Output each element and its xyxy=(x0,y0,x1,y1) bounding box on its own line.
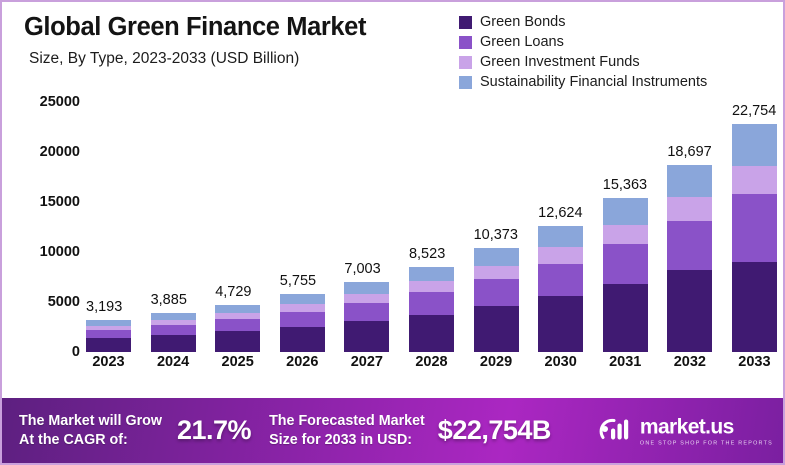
bar-value-label: 18,697 xyxy=(667,144,711,160)
bar-value-label: 7,003 xyxy=(344,261,380,277)
legend-item[interactable]: Green Investment Funds xyxy=(459,52,707,72)
bar-segment xyxy=(732,262,777,352)
bar-segment xyxy=(538,226,583,247)
x-axis-tick-label: 2026 xyxy=(280,354,325,370)
bar-segment xyxy=(344,303,389,321)
bar-column[interactable]: 22,754 xyxy=(732,102,777,352)
x-axis-tick-label: 2031 xyxy=(603,354,648,370)
y-axis-tick-label: 5000 xyxy=(48,294,80,310)
footer-bar: The Market will GrowAt the CAGR of: 21.7… xyxy=(2,398,785,463)
y-axis: 0500010000150002000025000 xyxy=(2,102,80,352)
bar-column[interactable]: 18,697 xyxy=(667,102,712,352)
y-axis-tick-label: 0 xyxy=(72,344,80,360)
bar-column[interactable]: 12,624 xyxy=(538,102,583,352)
legend-item-label: Green Bonds xyxy=(480,14,565,30)
bar-segment xyxy=(538,264,583,297)
bar-segment xyxy=(280,294,325,304)
bar-value-label: 5,755 xyxy=(280,273,316,289)
logo-bars-icon xyxy=(599,416,633,446)
y-axis-tick-label: 25000 xyxy=(40,94,80,110)
legend-swatch-icon xyxy=(459,16,472,29)
cagr-label: The Market will GrowAt the CAGR of: xyxy=(19,412,162,449)
bar-segment xyxy=(344,282,389,294)
bar-column[interactable]: 15,363 xyxy=(603,102,648,352)
chart-legend: Green BondsGreen LoansGreen Investment F… xyxy=(459,12,707,92)
chart-subtitle: Size, By Type, 2023-2033 (USD Billion) xyxy=(29,50,299,68)
legend-item[interactable]: Sustainability Financial Instruments xyxy=(459,72,707,92)
bar-segment xyxy=(603,225,648,245)
chart-card: Global Green Finance Market Size, By Typ… xyxy=(0,0,785,465)
bar-stack xyxy=(603,198,648,352)
legend-item[interactable]: Green Bonds xyxy=(459,12,707,32)
forecast-label: The Forecasted MarketSize for 2033 in US… xyxy=(269,412,425,449)
x-axis-tick-label: 2029 xyxy=(474,354,519,370)
forecast-value: $22,754B xyxy=(438,415,551,446)
bar-stack xyxy=(667,165,712,352)
x-axis-tick-label: 2027 xyxy=(344,354,389,370)
bar-segment xyxy=(280,327,325,352)
bar-segment xyxy=(474,248,519,266)
x-axis-tick-label: 2030 xyxy=(538,354,583,370)
legend-swatch-icon xyxy=(459,56,472,69)
bar-value-label: 8,523 xyxy=(409,246,445,262)
bar-segment xyxy=(409,292,454,314)
bar-stack xyxy=(474,248,519,352)
bar-segment xyxy=(732,166,777,193)
bar-segment xyxy=(86,338,131,352)
bar-segment xyxy=(215,331,260,352)
x-axis-tick-label: 2033 xyxy=(732,354,777,370)
bar-column[interactable]: 3,193 xyxy=(86,102,131,352)
market-us-logo[interactable]: market.us ONE STOP SHOP FOR THE REPORTS xyxy=(599,415,773,446)
bar-value-label: 22,754 xyxy=(732,103,776,119)
page-title: Global Green Finance Market xyxy=(24,13,366,42)
x-axis: 2023202420252026202720282029203020312032… xyxy=(86,354,777,370)
y-axis-tick-label: 20000 xyxy=(40,144,80,160)
bar-segment xyxy=(151,313,196,320)
legend-swatch-icon xyxy=(459,36,472,49)
bar-segment xyxy=(538,247,583,263)
x-axis-tick-label: 2023 xyxy=(86,354,131,370)
x-axis-tick-label: 2025 xyxy=(215,354,260,370)
cagr-value: 21.7% xyxy=(177,415,251,446)
bar-segment xyxy=(344,294,389,303)
y-axis-tick-label: 10000 xyxy=(40,244,80,260)
bar-value-label: 10,373 xyxy=(474,227,518,243)
bar-stack xyxy=(280,294,325,352)
bar-value-label: 3,885 xyxy=(151,292,187,308)
bar-segment xyxy=(603,244,648,284)
bar-segment xyxy=(409,267,454,281)
bar-stack xyxy=(151,313,196,352)
bar-column[interactable]: 8,523 xyxy=(409,102,454,352)
legend-item-label: Sustainability Financial Instruments xyxy=(480,74,707,90)
legend-item-label: Green Loans xyxy=(480,34,564,50)
bar-segment xyxy=(667,270,712,352)
legend-swatch-icon xyxy=(459,76,472,89)
bar-column[interactable]: 10,373 xyxy=(474,102,519,352)
bar-segment xyxy=(474,266,519,279)
plot-area: 0500010000150002000025000 3,1933,8854,72… xyxy=(2,102,785,392)
bar-segment xyxy=(667,221,712,270)
logo-wordmark: market.us xyxy=(640,415,773,439)
legend-item-label: Green Investment Funds xyxy=(480,54,640,70)
bar-segment xyxy=(667,165,712,197)
bar-value-label: 3,193 xyxy=(86,299,122,315)
bar-segment xyxy=(151,325,196,335)
x-axis-tick-label: 2032 xyxy=(667,354,712,370)
bars-container: 3,1933,8854,7295,7557,0038,52310,37312,6… xyxy=(86,102,777,352)
bar-segment xyxy=(409,281,454,292)
bar-column[interactable]: 7,003 xyxy=(344,102,389,352)
bar-segment xyxy=(474,306,519,352)
bar-stack xyxy=(215,305,260,352)
bar-column[interactable]: 4,729 xyxy=(215,102,260,352)
bar-segment xyxy=(151,335,196,352)
bar-segment xyxy=(474,279,519,306)
bar-segment xyxy=(538,296,583,352)
y-axis-tick-label: 15000 xyxy=(40,194,80,210)
bar-segment xyxy=(215,305,260,313)
bar-segment xyxy=(603,284,648,352)
x-axis-tick-label: 2028 xyxy=(409,354,454,370)
legend-item[interactable]: Green Loans xyxy=(459,32,707,52)
bar-column[interactable]: 5,755 xyxy=(280,102,325,352)
bar-stack xyxy=(344,282,389,352)
logo-tagline: ONE STOP SHOP FOR THE REPORTS xyxy=(640,440,773,446)
bar-stack xyxy=(732,124,777,352)
bar-value-label: 4,729 xyxy=(215,284,251,300)
bar-segment xyxy=(603,198,648,224)
bar-segment xyxy=(280,312,325,327)
bar-column[interactable]: 3,885 xyxy=(151,102,196,352)
bar-segment xyxy=(344,321,389,352)
bar-segment xyxy=(667,197,712,221)
bar-value-label: 15,363 xyxy=(603,177,647,193)
bar-segment xyxy=(215,319,260,331)
bar-value-label: 12,624 xyxy=(538,205,582,221)
bar-segment xyxy=(86,330,131,338)
bar-stack xyxy=(86,320,131,352)
bar-segment xyxy=(280,304,325,311)
bar-stack xyxy=(409,267,454,352)
bar-segment xyxy=(409,315,454,353)
bar-stack xyxy=(538,226,583,352)
x-axis-tick-label: 2024 xyxy=(151,354,196,370)
bar-segment xyxy=(732,194,777,262)
bar-segment xyxy=(732,124,777,166)
